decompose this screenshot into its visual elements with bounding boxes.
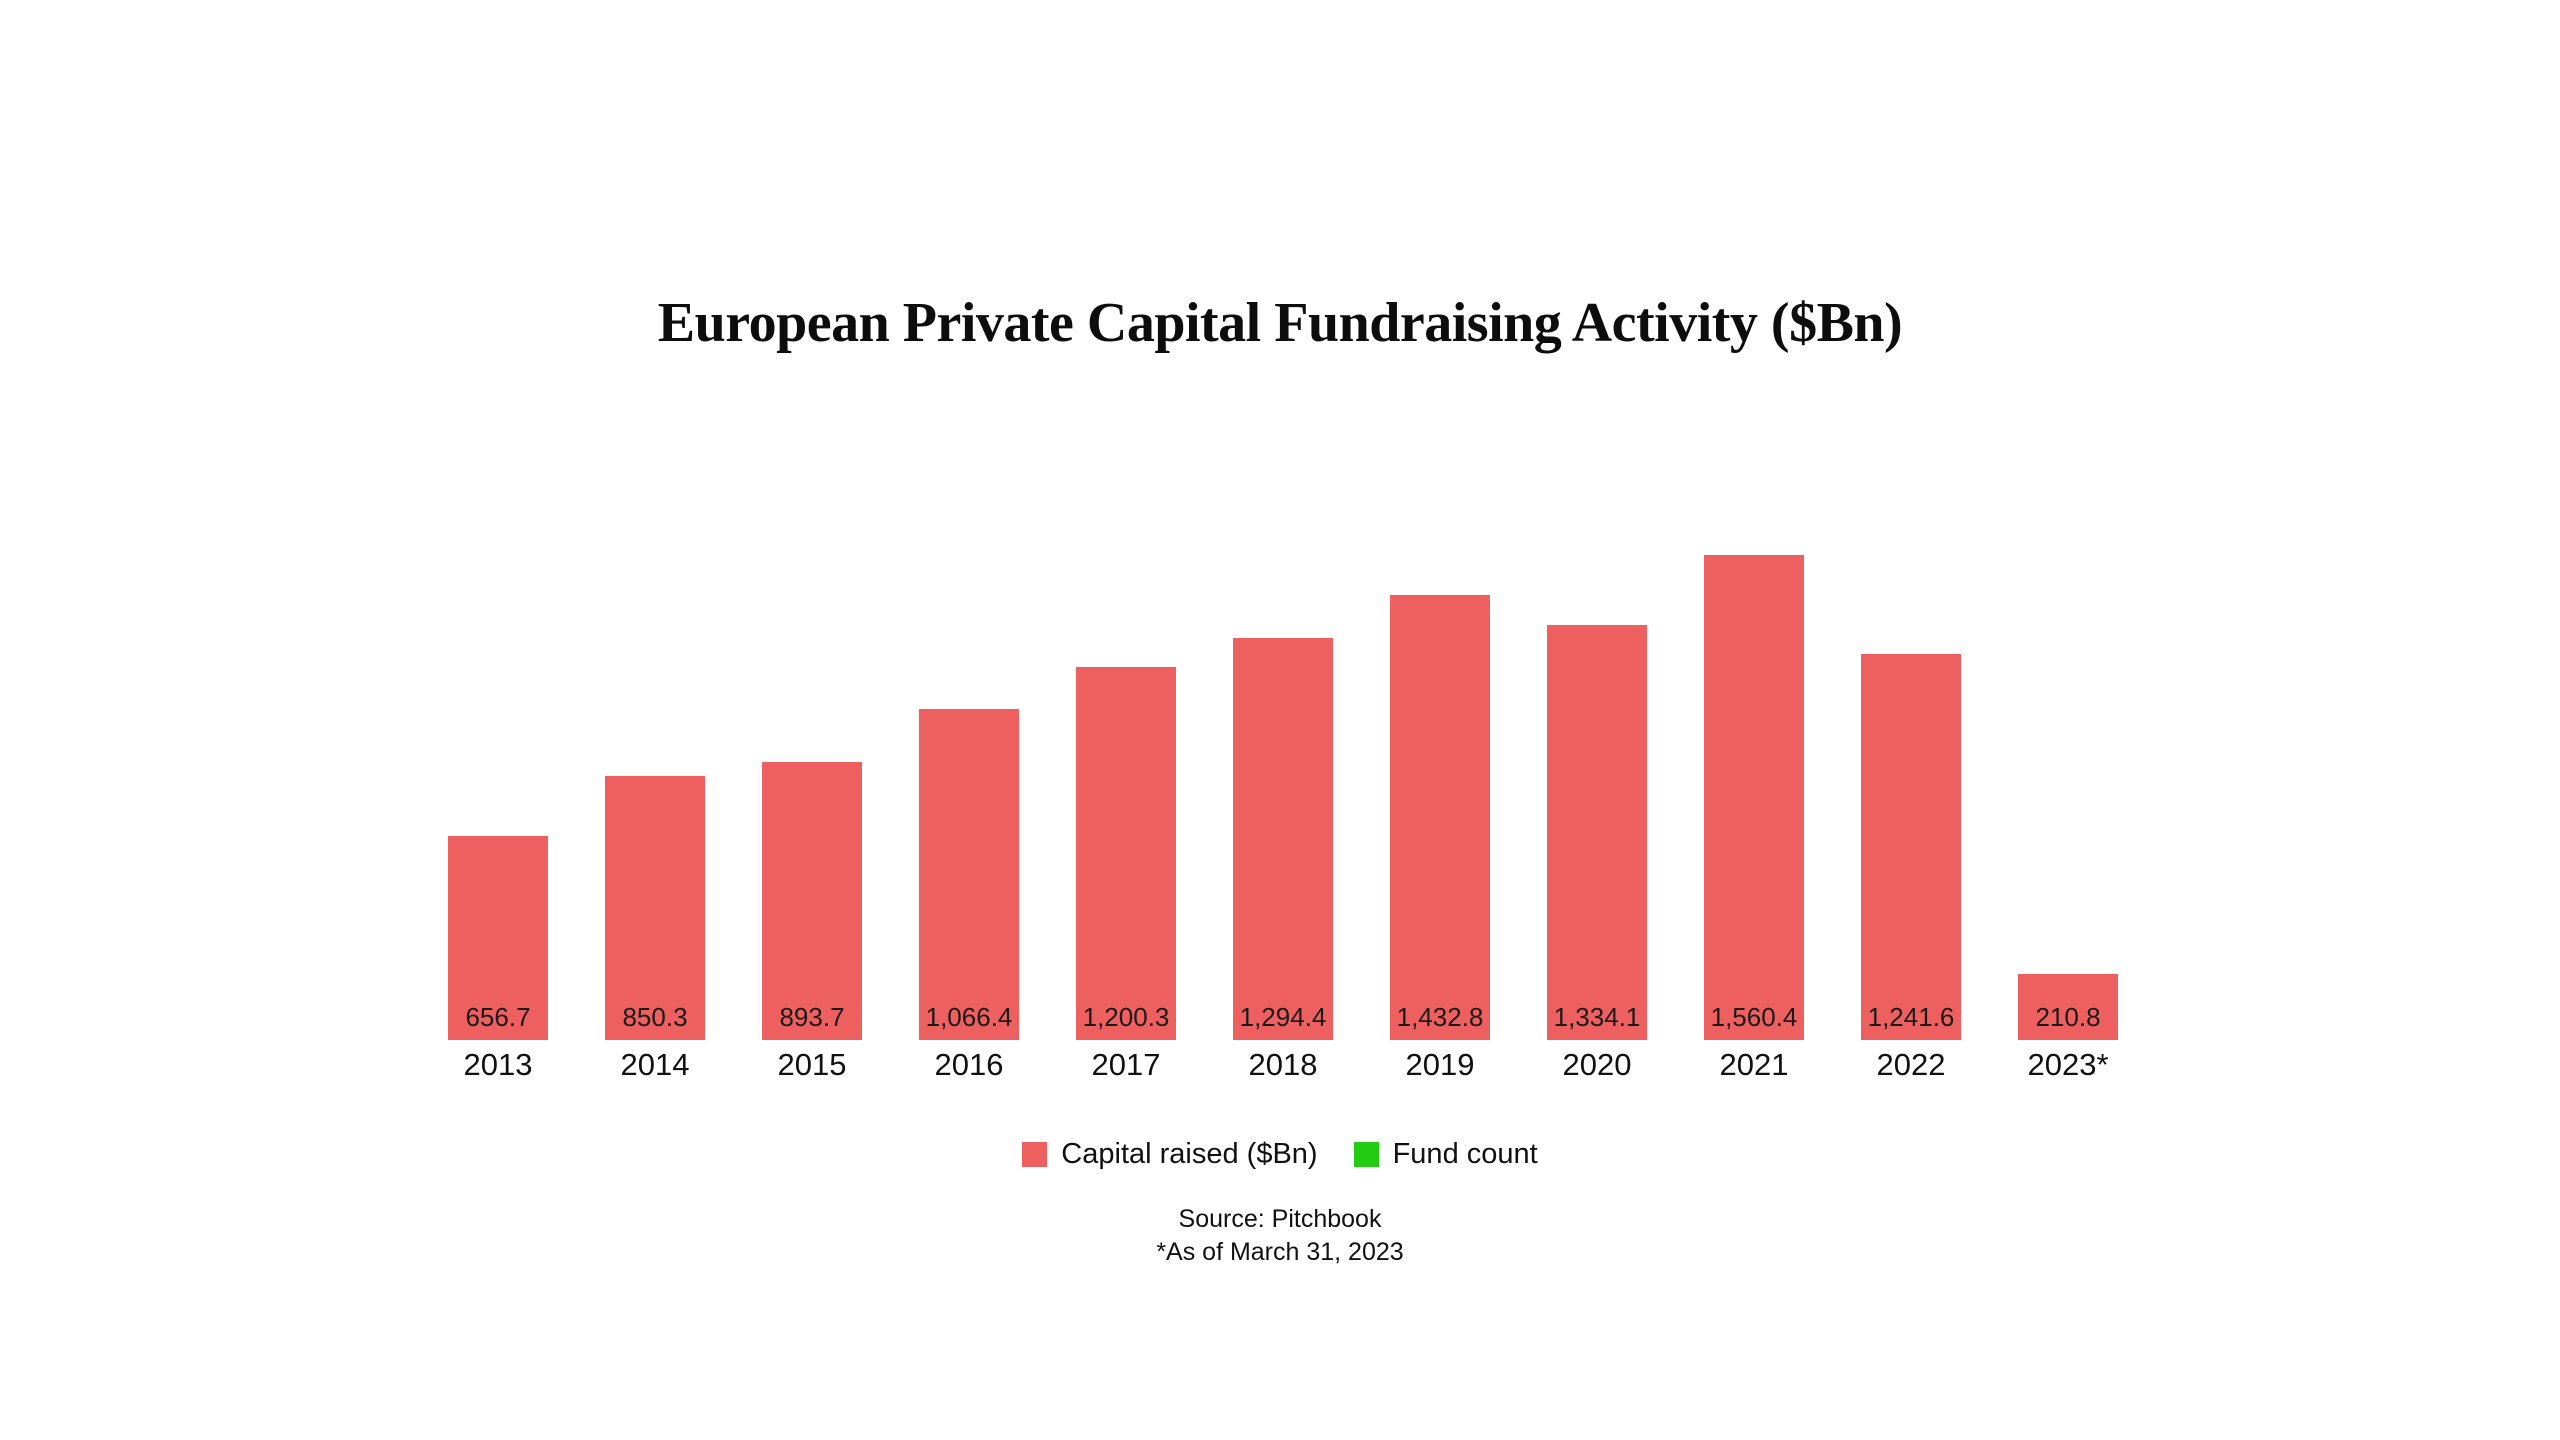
- bar-value-label: 1,294.4: [1240, 1004, 1327, 1030]
- bar[interactable]: 1,241.6: [1861, 654, 1961, 1040]
- x-axis-label: 2018: [1233, 1048, 1333, 1082]
- bar-value-label: 1,432.8: [1397, 1004, 1484, 1030]
- bar-group: 1,432.8: [1390, 470, 1490, 1040]
- bar-group: 893.7: [762, 470, 862, 1040]
- bar-group: 1,066.4: [919, 470, 1019, 1040]
- bar-value-label: 1,200.3: [1083, 1004, 1170, 1030]
- plot-area: 656.7850.3893.71,066.41,200.31,294.41,43…: [448, 470, 2112, 1040]
- bar-value-label: 210.8: [2035, 1004, 2100, 1030]
- bar-group: 1,200.3: [1076, 470, 1176, 1040]
- bar-group: 850.3: [605, 470, 705, 1040]
- bar[interactable]: 1,334.1: [1547, 625, 1647, 1040]
- x-axis-label: 2014: [605, 1048, 705, 1082]
- bar-group: 656.7: [448, 470, 548, 1040]
- bar[interactable]: 210.8: [2018, 974, 2118, 1040]
- bar-value-label: 893.7: [779, 1004, 844, 1030]
- bar-value-label: 1,560.4: [1711, 1004, 1798, 1030]
- legend-label: Capital raised ($Bn): [1061, 1140, 1317, 1169]
- bar-group: 210.8: [2018, 470, 2118, 1040]
- bar-value-label: 850.3: [622, 1004, 687, 1030]
- x-axis-label: 2017: [1076, 1048, 1176, 1082]
- bar-series-capital-raised: 656.7850.3893.71,066.41,200.31,294.41,43…: [448, 470, 2112, 1040]
- bar[interactable]: 893.7: [762, 762, 862, 1040]
- page-title: European Private Capital Fundraising Act…: [0, 292, 2560, 355]
- x-axis-label: 2020: [1547, 1048, 1647, 1082]
- legend-label: Fund count: [1393, 1140, 1538, 1169]
- bar-group: 1,294.4: [1233, 470, 1333, 1040]
- bar-group: 1,241.6: [1861, 470, 1961, 1040]
- bar-group: 1,334.1: [1547, 470, 1647, 1040]
- footnote-source: Source: Pitchbook: [0, 1203, 2560, 1236]
- x-axis-label: 2019: [1390, 1048, 1490, 1082]
- footnote-asterisk-note: *As of March 31, 2023: [0, 1236, 2560, 1269]
- x-axis-label: 2023*: [2018, 1048, 2118, 1082]
- x-axis-label: 2013: [448, 1048, 548, 1082]
- x-axis-category-labels: 2013201420152016201720182019202020212022…: [448, 1048, 2112, 1082]
- bar-value-label: 656.7: [465, 1004, 530, 1030]
- bar[interactable]: 1,066.4: [919, 709, 1019, 1040]
- bar-value-label: 1,334.1: [1554, 1004, 1641, 1030]
- x-axis-label: 2015: [762, 1048, 862, 1082]
- x-axis-label: 2016: [919, 1048, 1019, 1082]
- bar[interactable]: 850.3: [605, 776, 705, 1040]
- bar-group: 1,560.4: [1704, 470, 1804, 1040]
- chart-figure: European Private Capital Fundraising Act…: [0, 0, 2560, 1440]
- x-axis-label: 2021: [1704, 1048, 1804, 1082]
- bar[interactable]: 656.7: [448, 836, 548, 1040]
- legend-item[interactable]: Capital raised ($Bn): [1022, 1140, 1317, 1169]
- legend-swatch-icon: [1354, 1142, 1379, 1167]
- x-axis-label: 2022: [1861, 1048, 1961, 1082]
- bar[interactable]: 1,432.8: [1390, 595, 1490, 1040]
- bar[interactable]: 1,200.3: [1076, 667, 1176, 1040]
- bar-value-label: 1,066.4: [926, 1004, 1013, 1030]
- bar[interactable]: 1,294.4: [1233, 638, 1333, 1040]
- bar[interactable]: 1,560.4: [1704, 555, 1804, 1040]
- legend-item[interactable]: Fund count: [1354, 1140, 1538, 1169]
- legend-swatch-icon: [1022, 1142, 1047, 1167]
- chart-legend: Capital raised ($Bn)Fund count: [0, 1140, 2560, 1169]
- bar-value-label: 1,241.6: [1868, 1004, 1955, 1030]
- chart-footnote: Source: Pitchbook *As of March 31, 2023: [0, 1203, 2560, 1269]
